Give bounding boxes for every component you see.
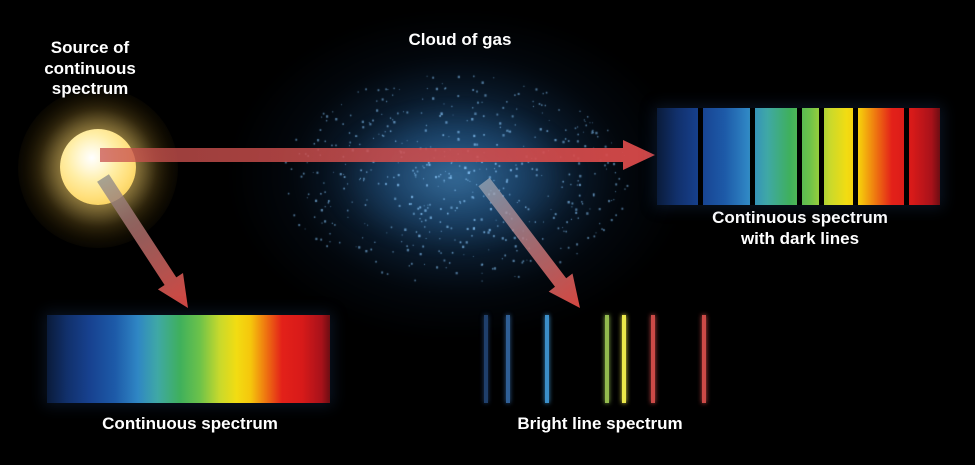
bright-emission-line bbox=[545, 315, 549, 403]
dark-absorption-line bbox=[797, 108, 802, 205]
absorption-spectrum-band bbox=[657, 108, 940, 205]
label-source-of-continuous-spectrum: Source of continuous spectrum bbox=[10, 38, 170, 100]
dark-absorption-line bbox=[853, 108, 858, 205]
bright-emission-line bbox=[651, 315, 655, 403]
bright-emission-line bbox=[702, 315, 706, 403]
dark-absorption-line bbox=[819, 108, 824, 205]
dark-absorption-line bbox=[904, 108, 909, 205]
continuous-spectrum-band bbox=[47, 315, 330, 403]
label-bright-line-spectrum: Bright line spectrum bbox=[460, 414, 740, 435]
label-continuous-spectrum: Continuous spectrum bbox=[45, 414, 335, 435]
bright-emission-line bbox=[605, 315, 609, 403]
dark-absorption-line bbox=[750, 108, 755, 205]
star-body bbox=[60, 129, 136, 205]
bright-emission-line bbox=[622, 315, 626, 403]
bright-emission-line bbox=[506, 315, 510, 403]
label-cloud-of-gas: Cloud of gas bbox=[340, 30, 580, 51]
label-continuous-spectrum-with-dark-lines: Continuous spectrum with dark lines bbox=[655, 208, 945, 249]
emission-spectrum-band bbox=[470, 315, 715, 403]
bright-emission-line bbox=[484, 315, 488, 403]
spectroscopy-diagram: Source of continuous spectrum Cloud of g… bbox=[0, 0, 975, 465]
dark-absorption-line bbox=[698, 108, 703, 205]
